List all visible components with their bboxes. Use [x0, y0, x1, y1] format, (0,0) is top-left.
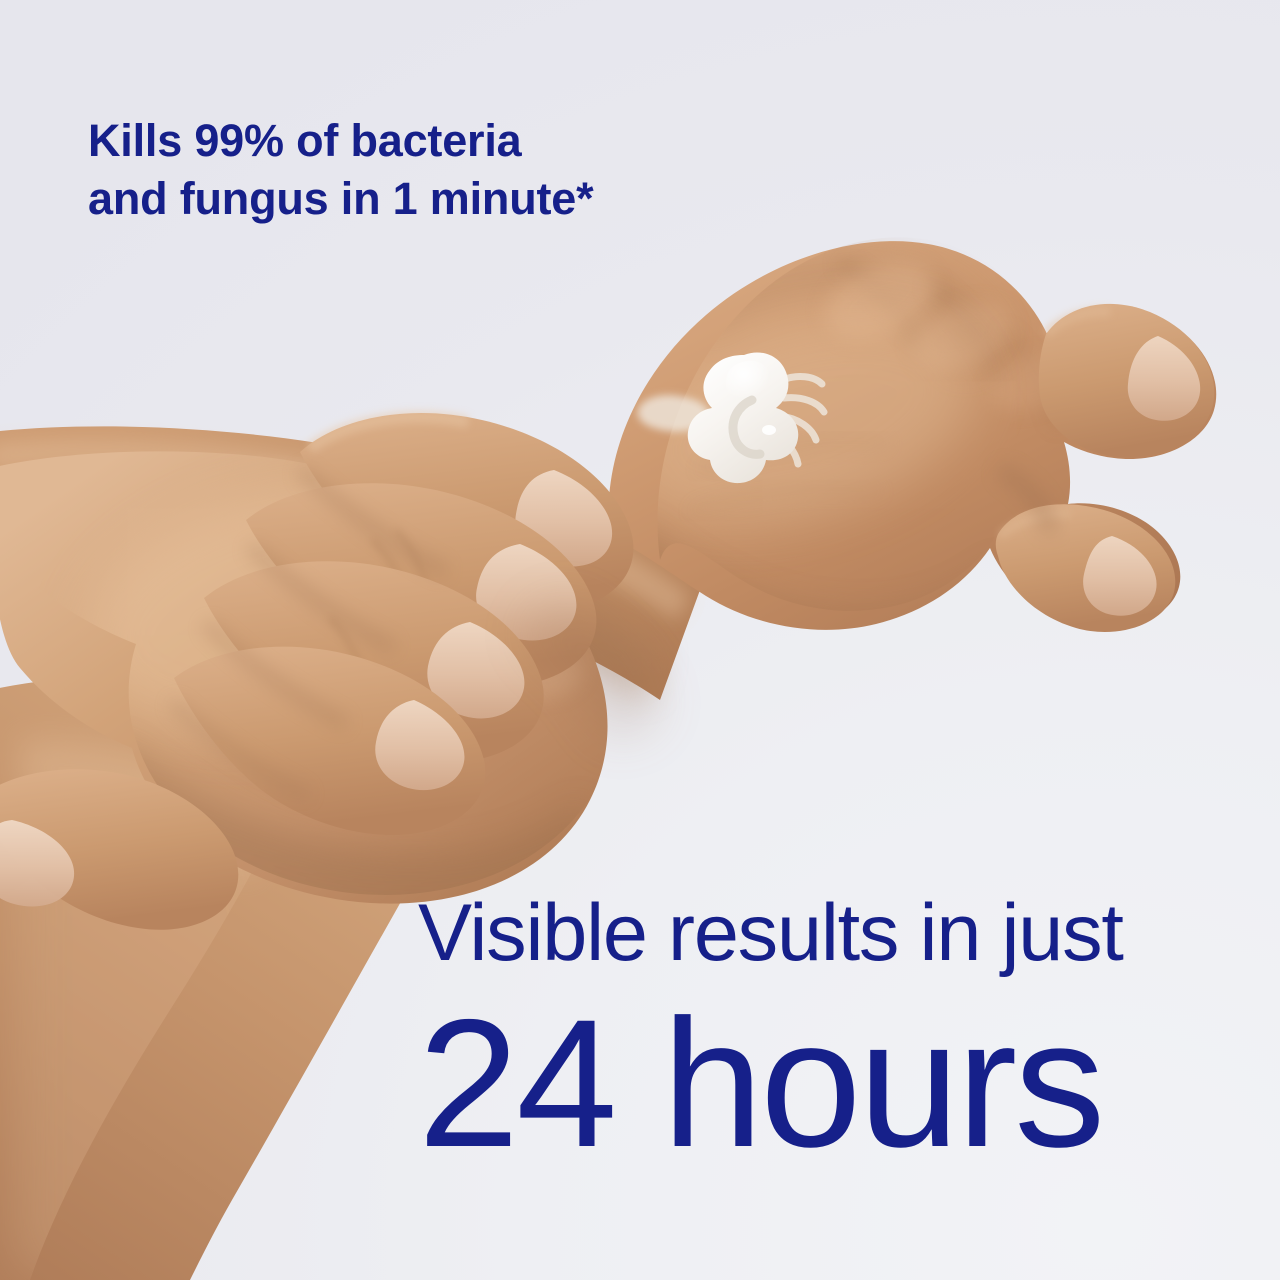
product-claim-banner: Kills 99% of bacteria and fungus in 1 mi… — [0, 0, 1280, 1280]
front-hand — [0, 413, 660, 930]
claim-line-primary: Visible results in just — [418, 893, 1238, 974]
headline-claim: Kills 99% of bacteria and fungus in 1 mi… — [88, 112, 593, 227]
results-claim-block: Visible results in just 24 hours — [418, 893, 1238, 1174]
claim-line-duration: 24 hours — [418, 992, 1238, 1174]
